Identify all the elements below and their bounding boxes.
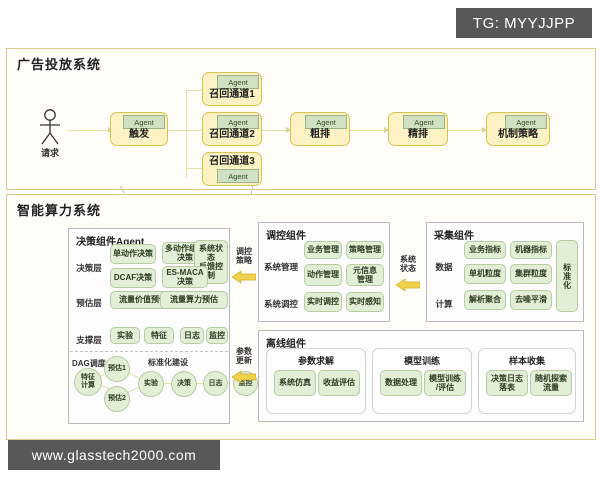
row-label-decision-layer: 决策层 (72, 262, 106, 274)
support-box-log[interactable]: 日志 (180, 327, 204, 344)
collect-component-title: 采集组件 (434, 227, 474, 242)
collect-box-machine-metric[interactable]: 机器指标 (510, 241, 552, 259)
node-fine-rank[interactable]: Agent 精排 (388, 112, 448, 146)
actor-request: 请求 (30, 108, 70, 158)
estimate-box-traffic-compute[interactable]: 流量算力预估 (160, 291, 228, 309)
flow-label: 调控 策略 (232, 248, 256, 266)
offline-box-random-explore-traffic[interactable]: 随机探索 流量 (530, 370, 572, 396)
actor-label: 请求 (30, 146, 70, 159)
node-label: 召回通道1 (203, 85, 261, 100)
node-label: 精排 (389, 125, 447, 140)
flow-system-status: 系统 状态 (396, 256, 420, 296)
row-label-system-management: 系统管理 (262, 261, 300, 273)
node-label: 召回通道2 (203, 125, 261, 140)
offline-box-decision-log-table[interactable]: 决策日志 落表 (486, 370, 528, 396)
watermark-telegram: TG: MYYJJPP (456, 8, 592, 38)
agent-badge: Agent (217, 169, 259, 183)
row-label-data: 数据 (430, 261, 458, 273)
node-coarse-rank[interactable]: Agent 粗排 (290, 112, 350, 146)
row-label-estimate-layer: 预估层 (72, 297, 106, 309)
connector-fine-mechanism (448, 130, 486, 131)
dag-node-decision[interactable]: 决策 (171, 371, 197, 397)
left-arrow-icon (232, 370, 256, 384)
dag-node-log[interactable]: 日志 (203, 371, 228, 396)
ad-system-title: 广告投放系统 (17, 54, 101, 73)
flow-label: 参数 更新 (232, 348, 256, 366)
dag-node-feature-compute[interactable]: 特征 计算 (74, 368, 102, 396)
collect-box-standardization[interactable]: 标准化 (556, 240, 578, 312)
control-box-realtime-sensing[interactable]: 实时感知 (346, 292, 384, 312)
connector-coarse-fine (350, 130, 388, 131)
stick-figure-icon (30, 108, 70, 148)
decision-box-es-maca[interactable]: ES-MACA 决策 (162, 266, 208, 288)
control-box-business-mgmt[interactable]: 业务管理 (304, 241, 342, 259)
dag-node-estimate-1[interactable]: 预估1 (104, 356, 130, 382)
collect-box-business-metric[interactable]: 业务指标 (464, 241, 506, 259)
collect-box-cluster-granularity[interactable]: 集群粒度 (510, 264, 552, 284)
flow-control-strategy: 调控 策略 (232, 248, 256, 288)
collect-box-denoise-smooth[interactable]: 去噪平滑 (510, 290, 552, 310)
offline-group-title: 模型训练 (373, 354, 471, 367)
offline-box-system-simulation[interactable]: 系统仿真 (274, 370, 316, 396)
decision-box-single-action[interactable]: 单动作决策 (110, 244, 156, 264)
control-box-strategy-mgmt[interactable]: 策略管理 (346, 241, 384, 259)
row-label-support-layer: 支撑层 (72, 334, 106, 346)
connector-actor-trigger (68, 130, 110, 131)
offline-group-title: 样本收集 (479, 354, 575, 367)
offline-box-data-processing[interactable]: 数据处理 (380, 370, 422, 396)
node-mechanism-strategy[interactable]: Agent 机制策略 (486, 112, 550, 146)
offline-box-model-train-eval[interactable]: 模型训练 /评估 (424, 370, 466, 396)
connector-trigger-branch (168, 130, 186, 131)
connector-branch-bottom (186, 168, 202, 169)
decision-card-divider (70, 351, 228, 352)
control-box-action-mgmt[interactable]: 动作管理 (304, 264, 342, 286)
decision-box-dcaf[interactable]: DCAF决策 (110, 268, 156, 288)
support-box-monitor[interactable]: 监控 (206, 327, 228, 344)
dag-node-experiment[interactable]: 实验 (138, 371, 164, 397)
collect-box-parse-aggregate[interactable]: 解析聚合 (464, 290, 506, 310)
flow-parameter-update: 参数 更新 (232, 348, 256, 388)
row-label-system-control: 系统调控 (262, 298, 300, 310)
control-box-realtime-control[interactable]: 实时调控 (304, 292, 342, 312)
connector-branch-vertical (186, 90, 187, 178)
dag-node-estimate-2[interactable]: 预估2 (104, 386, 130, 412)
offline-group-title: 参数求解 (267, 354, 365, 367)
control-box-meta-info-mgmt[interactable]: 元信息 管理 (346, 264, 384, 286)
node-recall-channel-2[interactable]: Agent 召回通道2 (202, 112, 262, 146)
dag-standardization-label: 标准化建设 (136, 357, 200, 368)
support-box-experiment[interactable]: 实验 (110, 327, 140, 344)
support-box-feature[interactable]: 特征 (144, 327, 174, 344)
watermark-url: www.glasstech2000.com (8, 440, 220, 470)
row-label-compute: 计算 (430, 298, 458, 310)
connector-branch-top (186, 90, 202, 91)
left-arrow-icon (396, 278, 420, 292)
control-component-title: 调控组件 (266, 227, 306, 242)
flow-label: 系统 状态 (396, 256, 420, 274)
connector-branch-mid (186, 130, 202, 131)
left-arrow-icon (232, 270, 256, 284)
offline-box-revenue-eval[interactable]: 收益评估 (318, 370, 360, 396)
node-label: 机制策略 (487, 125, 549, 140)
diagram-canvas: TG: MYYJJPP www.glasstech2000.com 广告投放系统… (0, 0, 600, 480)
compute-system-title: 智能算力系统 (17, 200, 101, 219)
node-label: 触发 (111, 125, 167, 140)
node-trigger[interactable]: Agent 触发 (110, 112, 168, 146)
node-label: 粗排 (291, 125, 349, 140)
collect-box-single-machine-granularity[interactable]: 单机粒度 (464, 264, 506, 284)
node-recall-channel-1[interactable]: Agent 召回通道1 (202, 72, 262, 106)
node-recall-channel-3[interactable]: Agent 召回通道3 (202, 152, 262, 186)
node-label: 召回通道3 (203, 152, 261, 167)
